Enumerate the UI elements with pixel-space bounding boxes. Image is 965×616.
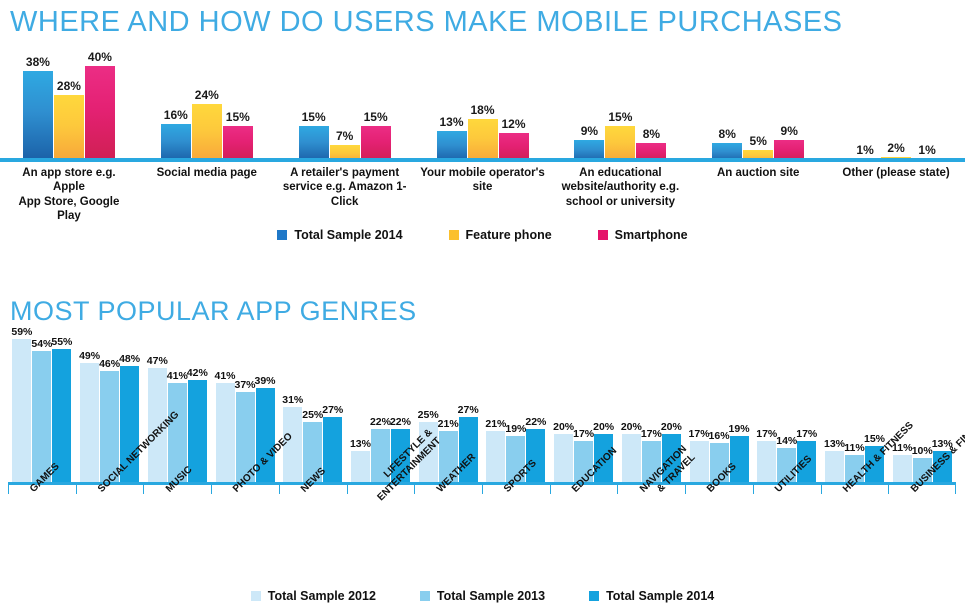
chart2-bar: 54% [32,351,51,482]
chart2-bar: 17% [757,441,776,482]
chart2-bar-value: 13% [350,438,371,450]
chart1-bar-value: 15% [608,110,632,124]
chart1-category-label-line: Other (please state) [833,166,959,180]
chart1-bar-value: 5% [750,134,767,148]
chart2-bar: 59% [12,339,31,482]
chart2-bar-value: 22% [370,416,391,428]
chart1-category-label: An auction site [689,166,827,224]
chart1-bar-value: 28% [57,79,81,93]
chart2-bar-value: 48% [119,353,140,365]
chart1-category-label-line: service e.g. Amazon 1- [282,180,408,194]
chart1-category-labels: An app store e.g. AppleApp Store, Google… [0,166,965,224]
chart1-plot-area: 38%28%40%16%24%15%15%7%15%13%18%12%9%15%… [0,52,965,162]
chart1-bar-value: 9% [581,124,598,138]
chart1-category-label-line: An auction site [695,166,821,180]
chart1-bar-value: 16% [164,108,188,122]
chart1-bar-group: 9%15%8% [551,52,689,162]
chart1-group: 9%15%8% [551,52,689,162]
chart1-group: 13%18%12% [414,52,552,162]
chart2-bar-group: 31%25%27% [279,332,347,482]
chart2-bar-value: 14% [776,435,797,447]
chart2-group: 31%25%27% [279,332,347,482]
chart1-bar: 15% [223,126,253,162]
chart2-bar-value: 41% [215,370,236,382]
chart1-group: 15%7%15% [276,52,414,162]
chart1-group: 8%5%9% [689,52,827,162]
chart2-bar: 42% [188,380,207,482]
chart2-bar: 49% [80,363,99,482]
chart1-group: 38%28%40% [0,52,138,162]
chart1-bar-value: 15% [364,110,388,124]
chart2-bar: 41% [216,383,235,482]
legend-swatch-icon [598,230,608,240]
chart2-bar-value: 46% [99,358,120,370]
chart1-legend-label: Smartphone [615,228,688,242]
chart2-group: 47%41%42% [143,332,211,482]
chart1-category-label-line: Your mobile operator's [420,166,546,180]
chart1-bar-value: 18% [470,103,494,117]
chart2-bar-group: 47%41%42% [143,332,211,482]
chart2-bar-value: 42% [187,367,208,379]
chart2-legend-label: Total Sample 2013 [437,589,545,603]
chart2-bar: 11% [893,455,912,482]
chart2-bar-value: 55% [51,336,72,348]
chart2-legend-label: Total Sample 2012 [268,589,376,603]
chart1-legend-label: Total Sample 2014 [294,228,402,242]
chart2-legend-item[interactable]: Total Sample 2014 [589,589,714,603]
chart2-category-labels: GAMESSOCIAL NETWORKINGMUSICPHOTO & VIDEO… [8,487,956,577]
chart1-legend-item[interactable]: Total Sample 2014 [277,228,402,242]
chart1-bar: 40% [85,66,115,162]
chart1-bar-value: 1% [856,143,873,157]
chart1-bar: 15% [605,126,635,162]
chart1-bar-group: 1%2%1% [827,52,965,162]
chart2-bar-value: 19% [505,423,526,435]
chart2-legend-label: Total Sample 2014 [606,589,714,603]
legend-swatch-icon [449,230,459,240]
chart2-legend-item[interactable]: Total Sample 2012 [251,589,376,603]
chart2-bar-value: 22% [390,416,411,428]
chart1-group: 16%24%15% [138,52,276,162]
chart1-bar-value: 8% [719,127,736,141]
chart1-bar-value: 7% [336,129,353,143]
chart2-bar-value: 49% [79,350,100,362]
chart1-bar-value: 38% [26,55,50,69]
chart1-bar-value: 1% [918,143,935,157]
chart2-bar-value: 21% [438,418,459,430]
chart1-bar: 24% [192,104,222,162]
chart2-bar: 21% [486,431,505,482]
chart1-bar: 16% [161,124,191,162]
chart1-bar: 15% [361,126,391,162]
chart2-bar-value: 47% [147,355,168,367]
chart2-bar-value: 10% [912,445,933,457]
chart1-category-label-line: A retailer's payment [282,166,408,180]
chart1-bar: 18% [468,119,498,162]
chart2-bar-value: 37% [235,379,256,391]
chart1-category-label-line: An educational [557,166,683,180]
chart1-axis-line [0,158,965,162]
chart1-bar: 28% [54,95,84,162]
chart2-bar-value: 17% [796,428,817,440]
chart2-bar-value: 20% [621,421,642,433]
legend-swatch-icon [420,591,430,601]
legend-swatch-icon [277,230,287,240]
chart1-category-label: A retailer's paymentservice e.g. Amazon … [276,166,414,224]
chart2-bar: 20% [622,434,641,482]
chart2-bar-value: 27% [458,404,479,416]
chart1-bar-group: 8%5%9% [689,52,827,162]
chart2-bar-value: 19% [729,423,750,435]
legend-swatch-icon [251,591,261,601]
chart1-title: WHERE AND HOW DO USERS MAKE MOBILE PURCH… [10,6,843,39]
chart2-plot-area: 59%54%55%49%46%48%47%41%42%41%37%39%31%2… [8,332,956,482]
chart1-bar-value: 24% [195,88,219,102]
chart1-bar: 15% [299,126,329,162]
chart1-category-label-line: Social media page [144,166,270,180]
chart2-bar: 13% [825,451,844,482]
chart2-bar-value: 20% [593,421,614,433]
chart1-bar: 38% [23,71,53,162]
chart2-bar-value: 17% [756,428,777,440]
chart1-category-label: Other (please state) [827,166,965,224]
chart1-bar-group: 15%7%15% [276,52,414,162]
chart1-category-label: An educationalwebsite/authority e.g.scho… [551,166,689,224]
chart2-title: MOST POPULAR APP GENRES [10,296,417,327]
chart1-category-label-line: Click [282,195,408,209]
chart2-bar-value: 21% [485,418,506,430]
chart1-legend: Total Sample 2014Feature phoneSmartphone [0,228,965,242]
chart2-bar-value: 27% [322,404,343,416]
chart2-bar-value: 41% [167,370,188,382]
chart1-bar-value: 15% [226,110,250,124]
chart1-category-label-line: An app store e.g. Apple [6,166,132,195]
chart1-legend-item[interactable]: Feature phone [449,228,552,242]
chart2-bar-value: 11% [844,442,864,454]
chart2-bar-value: 31% [282,394,303,406]
chart1-bar-value: 13% [439,115,463,129]
chart2-group: 21%19%22% [482,332,550,482]
chart2-bar-value: 16% [709,430,730,442]
chart2-group: 59%54%55% [8,332,76,482]
chart1-bar-value: 15% [302,110,326,124]
chart1-category-label: Your mobile operator'ssite [414,166,552,224]
chart2-bar-group: 21%19%22% [482,332,550,482]
chart1-group: 1%2%1% [827,52,965,162]
chart2-bar-value: 20% [553,421,574,433]
chart2-bar: 13% [351,451,370,482]
chart2-bar-value: 20% [661,421,682,433]
chart1-category-label: An app store e.g. AppleApp Store, Google… [0,166,138,224]
chart1-category-label: Social media page [138,166,276,224]
chart2-bar-value: 15% [864,433,885,445]
chart2-bar-value: 13% [824,438,845,450]
chart2-legend-item[interactable]: Total Sample 2013 [420,589,545,603]
chart1-category-label-line: school or university [557,195,683,209]
chart1-bar-value: 8% [643,127,660,141]
chart2-bar-group: 59%54%55% [8,332,76,482]
chart2-bar-value: 17% [641,428,662,440]
chart1-bar-value: 40% [88,50,112,64]
infographic-page: WHERE AND HOW DO USERS MAKE MOBILE PURCH… [0,0,965,616]
chart1-legend-label: Feature phone [466,228,552,242]
chart1-bar-value: 12% [501,117,525,131]
chart1-bar-value: 2% [887,141,904,155]
chart2-bar-value: 25% [302,409,323,421]
chart2-bar-value: 17% [573,428,594,440]
chart1-legend-item[interactable]: Smartphone [598,228,688,242]
chart2-bar-value: 22% [525,416,546,428]
chart1-category-label-line: App Store, Google Play [6,195,132,224]
chart1-category-label-line: site [420,180,546,194]
chart2-bar-value: 54% [31,338,52,350]
chart1-bar-group: 13%18%12% [414,52,552,162]
chart1-bar-group: 38%28%40% [0,52,138,162]
chart2-bar-value: 25% [418,409,439,421]
chart2-bar-value: 59% [11,326,32,338]
chart2-legend: Total Sample 2012Total Sample 2013Total … [0,589,965,603]
chart1-bar-value: 9% [781,124,798,138]
chart2-bar-value: 39% [255,375,276,387]
chart2-bar: 20% [554,434,573,482]
chart2-bar-value: 17% [689,428,710,440]
chart1-bar-group: 16%24%15% [138,52,276,162]
chart1-category-label-line: website/authority e.g. [557,180,683,194]
legend-swatch-icon [589,591,599,601]
